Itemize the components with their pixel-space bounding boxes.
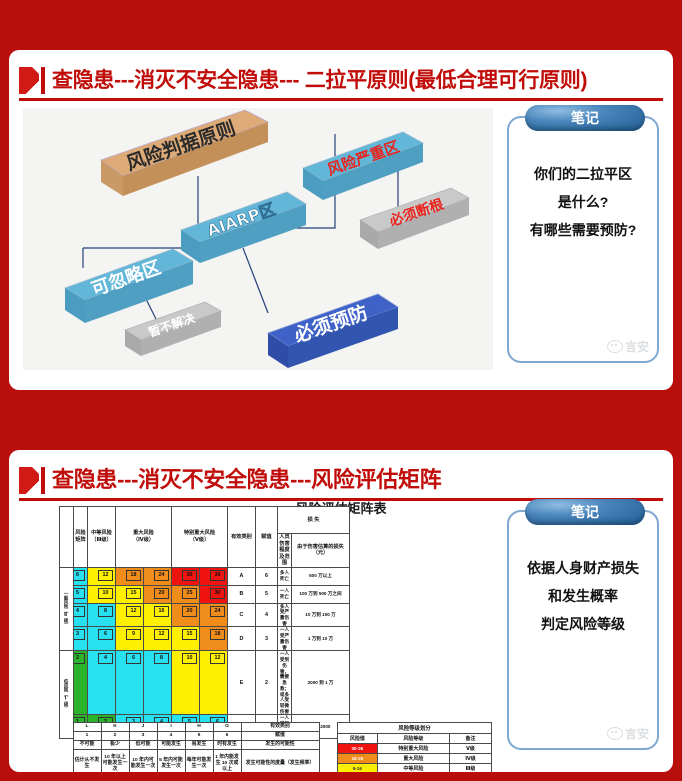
matrix-value: 12: [98, 570, 113, 581]
loss-desc-cell: 一人死亡: [278, 585, 292, 603]
prob-cell: I: [157, 723, 185, 732]
prob-cell: 估计从不发生: [73, 750, 101, 772]
title-accent-bar: [41, 467, 45, 494]
matrix-value: 15: [182, 629, 197, 640]
matrix-value: 4: [74, 606, 86, 617]
prob-cell: 2: [101, 732, 129, 741]
legend-level: 特别重大风险: [377, 744, 449, 754]
matrix-value: 36: [210, 570, 225, 581]
slide1-title-underline: [19, 98, 663, 101]
matrix-value-cell: 4: [88, 651, 116, 715]
severity-class-cell: D: [228, 627, 256, 651]
matrix-value: 30: [210, 588, 225, 599]
matrix-value: 2: [74, 653, 86, 664]
legend-level: 重大风险: [377, 754, 449, 764]
watermark-label: 言安: [625, 338, 649, 355]
notes-line: 你们的二拉平区: [509, 160, 657, 188]
matrix-side-label: 一般风险（Ⅱ级）: [60, 567, 74, 651]
prob-cell: H: [185, 723, 213, 732]
matrix-value-cell: 18: [200, 627, 228, 651]
loss-desc-cell: 多人死亡: [278, 567, 292, 585]
notes-panel-1: 笔记 你们的二拉平区 是什么? 有哪些需要预防? 言安: [507, 116, 659, 363]
matrix-value: 5: [74, 588, 86, 599]
matrix-value: 6: [126, 653, 141, 664]
prob-side-header: 发生的可能性: [241, 741, 319, 750]
prob-cell: K: [101, 723, 129, 732]
prob-cell: 10 年以上可能发生一次: [101, 750, 129, 772]
probability-table: LKJIHG有效类别123456赋值不可能极少低可能可能发生易发生时有发生发生的…: [59, 722, 320, 772]
prob-cell: 5: [185, 732, 213, 741]
severity-value-cell: 6: [256, 567, 278, 585]
matrix-value: 8: [98, 606, 113, 617]
matrix-value-cell: 20: [172, 603, 200, 627]
loss-desc-cell: 一人受到伤害，需要急救；或多人受轻微伤害: [278, 651, 292, 715]
prob-cell: 低可能: [129, 741, 157, 750]
loss-desc-cell: 一人受严重伤害: [278, 627, 292, 651]
page-root: 查隐患---消灭不安全隐患--- 二拉平原则(最低合理可行原则): [0, 0, 682, 781]
slide1-title: 查隐患---消灭不安全隐患--- 二拉平原则(最低合理可行原则): [52, 70, 587, 91]
matrix-value-cell: 3: [74, 627, 88, 651]
matrix-value-cell: 6: [88, 627, 116, 651]
diagram-svg: 风险判据原则 风险严重区 必须断根: [23, 108, 493, 370]
matrix-value: 30: [182, 570, 197, 581]
legend-title: 风险等级划分: [337, 722, 492, 733]
loss-group-header: 损 失: [278, 507, 350, 534]
matrix-value-cell: 8: [144, 651, 172, 715]
matrix-col-header: 特别重大风险（Ⅴ级）: [172, 507, 228, 568]
matrix-value: 20: [182, 606, 197, 617]
matrix-value-cell: 6: [74, 567, 88, 585]
prob-cell: 3: [129, 732, 157, 741]
matrix-value: 10: [182, 653, 197, 664]
matrix-value-cell: 16: [144, 603, 172, 627]
risk-matrix-container: 风险矩阵中等风险（Ⅲ级）重大风险（Ⅳ级）特别重大风险（Ⅴ级）有效类别赋值损 失人…: [59, 506, 489, 721]
matrix-value: 9: [126, 629, 141, 640]
loss-amount-cell: 500 万以上: [292, 567, 350, 585]
slide1-title-row: 查隐患---消灭不安全隐患--- 二拉平原则(最低合理可行原则): [19, 58, 663, 102]
legend-header: 风险值: [338, 734, 378, 744]
matrix-value: 12: [154, 629, 169, 640]
matrix-value-cell: 12: [144, 627, 172, 651]
matrix-value-cell: 4: [74, 603, 88, 627]
notes-line: 判定风险等级: [509, 610, 657, 638]
matrix-value-cell: 8: [88, 603, 116, 627]
matrix-col-header: 风险矩阵: [74, 507, 88, 568]
matrix-value-cell: 12: [200, 651, 228, 715]
matrix-value: 20: [154, 588, 169, 599]
legend-range: 9-16: [338, 764, 378, 773]
matrix-value-cell: 12: [116, 603, 144, 627]
matrix-value-cell: 5: [74, 585, 88, 603]
notes-body-1: 你们的二拉平区 是什么? 有哪些需要预防?: [509, 160, 657, 244]
legend-note: Ⅴ级: [449, 744, 491, 754]
matrix-value: 18: [126, 570, 141, 581]
legend-header: 风险等级: [377, 734, 449, 744]
matrix-value-cell: 12: [88, 567, 116, 585]
notes-line: 有哪些需要预防?: [509, 216, 657, 244]
prob-cell: 10 年内可能发生一次: [129, 750, 157, 772]
watermark-label: 言安: [625, 725, 649, 742]
matrix-value: 12: [210, 653, 225, 664]
matrix-value: 25: [182, 588, 197, 599]
legend-container: 风险等级划分 风险值风险等级备注30-36特别重大风险Ⅴ级18-25重大风险Ⅳ级…: [337, 722, 492, 772]
slide2-title: 查隐患---消灭不安全隐患---风险评估矩阵: [52, 469, 441, 491]
loss-amount-cell: 2000 到 1 万: [292, 651, 350, 715]
prob-cell: 6: [213, 732, 241, 741]
matrix-value: 6: [74, 570, 86, 581]
wechat-bubble-icon: [607, 340, 623, 353]
slide-card-2: 查隐患---消灭不安全隐患---风险评估矩阵 风险评估矩阵表 风险矩阵中等风险（…: [9, 450, 673, 772]
wechat-bubble-icon: [607, 727, 623, 740]
prob-row-pad: [59, 741, 73, 750]
matrix-value-cell: 25: [172, 585, 200, 603]
notes-panel-2: 笔记 依据人身财产损失 和发生概率 判定风险等级 言安: [507, 510, 659, 750]
matrix-value-cell: 2: [74, 651, 88, 715]
legend-range: 18-25: [338, 754, 378, 764]
matrix-value: 15: [126, 588, 141, 599]
legend-note: Ⅲ级: [449, 764, 491, 773]
loss-col-header: 人员伤害程度及范围: [278, 534, 292, 568]
matrix-value: 24: [210, 606, 225, 617]
prob-cell: 不可能: [73, 741, 101, 750]
severity-class-cell: E: [228, 651, 256, 715]
severity-value-cell: 4: [256, 603, 278, 627]
prob-cell: G: [213, 723, 241, 732]
prob-cell: 易发生: [185, 741, 213, 750]
prob-cell: 每年可能发生一次: [185, 750, 213, 772]
wechat-watermark-1: 言安: [607, 338, 649, 355]
matrix-value-cell: 6: [116, 651, 144, 715]
prob-cell: 时有发生: [213, 741, 241, 750]
loss-amount-cell: 100 万到 500 万之间: [292, 585, 350, 603]
matrix-value-cell: 20: [144, 585, 172, 603]
slide2-title-row: 查隐患---消灭不安全隐患---风险评估矩阵: [19, 458, 663, 502]
slide-card-1: 查隐患---消灭不安全隐患--- 二拉平原则(最低合理可行原则): [9, 50, 673, 390]
matrix-value: 24: [154, 570, 169, 581]
prob-cell: L: [73, 723, 101, 732]
matrix-side-spacer: [60, 507, 74, 568]
risk-criteria-diagram: 风险判据原则 风险严重区 必须断根: [23, 108, 493, 370]
matrix-value: 6: [98, 629, 113, 640]
notes-caption-2: 笔记: [525, 499, 645, 525]
bookmark-icon: [19, 67, 39, 94]
matrix-col-header: 有效类别: [228, 507, 256, 568]
matrix-value: 10: [98, 588, 113, 599]
matrix-value-cell: 30: [172, 567, 200, 585]
matrix-value-cell: 10: [172, 651, 200, 715]
loss-desc-cell: 多人受严重伤害: [278, 603, 292, 627]
severity-value-cell: 2: [256, 651, 278, 715]
prob-row-pad: [59, 732, 73, 741]
matrix-value: 3: [74, 629, 86, 640]
matrix-value-cell: 15: [116, 585, 144, 603]
matrix-value-cell: 18: [116, 567, 144, 585]
matrix-value-cell: 24: [144, 567, 172, 585]
matrix-value-cell: 24: [200, 603, 228, 627]
wechat-watermark-2: 言安: [607, 725, 649, 742]
matrix-value-cell: 15: [172, 627, 200, 651]
notes-line: 是什么?: [509, 188, 657, 216]
title-accent-bar: [41, 67, 45, 94]
prob-cell: 1: [73, 732, 101, 741]
matrix-value: 4: [98, 653, 113, 664]
matrix-col-header: 赋值: [256, 507, 278, 568]
risk-level-legend-table: 风险值风险等级备注30-36特别重大风险Ⅴ级18-25重大风险Ⅳ级9-16中等风…: [337, 733, 492, 772]
notes-caption-1: 笔记: [525, 105, 645, 131]
matrix-value-cell: 30: [200, 585, 228, 603]
matrix-value: 8: [154, 653, 169, 664]
prob-cell: J: [129, 723, 157, 732]
matrix-col-header: 中等风险（Ⅲ级）: [88, 507, 116, 568]
risk-matrix-table: 风险矩阵中等风险（Ⅲ级）重大风险（Ⅳ级）特别重大风险（Ⅴ级）有效类别赋值损 失人…: [59, 506, 410, 739]
matrix-value: 12: [126, 606, 141, 617]
matrix-col-header: 重大风险（Ⅳ级）: [116, 507, 172, 568]
prob-row-pad: [59, 723, 73, 732]
prob-side-header: 发生可能性的度量（发生频率）: [241, 750, 319, 772]
loss-col-header: 由于伤害估算的损失（元）: [292, 534, 350, 568]
prob-cell: 极少: [101, 741, 129, 750]
matrix-value-cell: 36: [200, 567, 228, 585]
legend-level: 中等风险: [377, 764, 449, 773]
severity-class-cell: B: [228, 585, 256, 603]
legend-note: Ⅳ级: [449, 754, 491, 764]
notes-line: 依据人身财产损失: [509, 554, 657, 582]
severity-value-cell: 5: [256, 585, 278, 603]
matrix-value-cell: 10: [88, 585, 116, 603]
prob-cell: 1 年内能发生 10 次或以上: [213, 750, 241, 772]
legend-header: 备注: [449, 734, 491, 744]
prob-side-header: 有效类别: [241, 723, 319, 732]
severity-value-cell: 3: [256, 627, 278, 651]
prob-row-pad: [59, 750, 73, 772]
slide-gap: [0, 390, 682, 450]
notes-body-2: 依据人身财产损失 和发生概率 判定风险等级: [509, 554, 657, 638]
loss-amount-cell: 1 万到 10 万: [292, 627, 350, 651]
prob-cell: 可能发生: [157, 741, 185, 750]
severity-class-cell: A: [228, 567, 256, 585]
matrix-value-cell: 9: [116, 627, 144, 651]
legend-range: 30-36: [338, 744, 378, 754]
bookmark-icon: [19, 467, 39, 494]
matrix-value: 18: [210, 629, 225, 640]
severity-class-cell: C: [228, 603, 256, 627]
prob-cell: 4: [157, 732, 185, 741]
prob-side-header: 赋值: [241, 732, 319, 741]
loss-amount-cell: 10 万到 100 万: [292, 603, 350, 627]
notes-line: 和发生概率: [509, 582, 657, 610]
matrix-value: 16: [154, 606, 169, 617]
prob-cell: 5 年内可能发生一次: [157, 750, 185, 772]
